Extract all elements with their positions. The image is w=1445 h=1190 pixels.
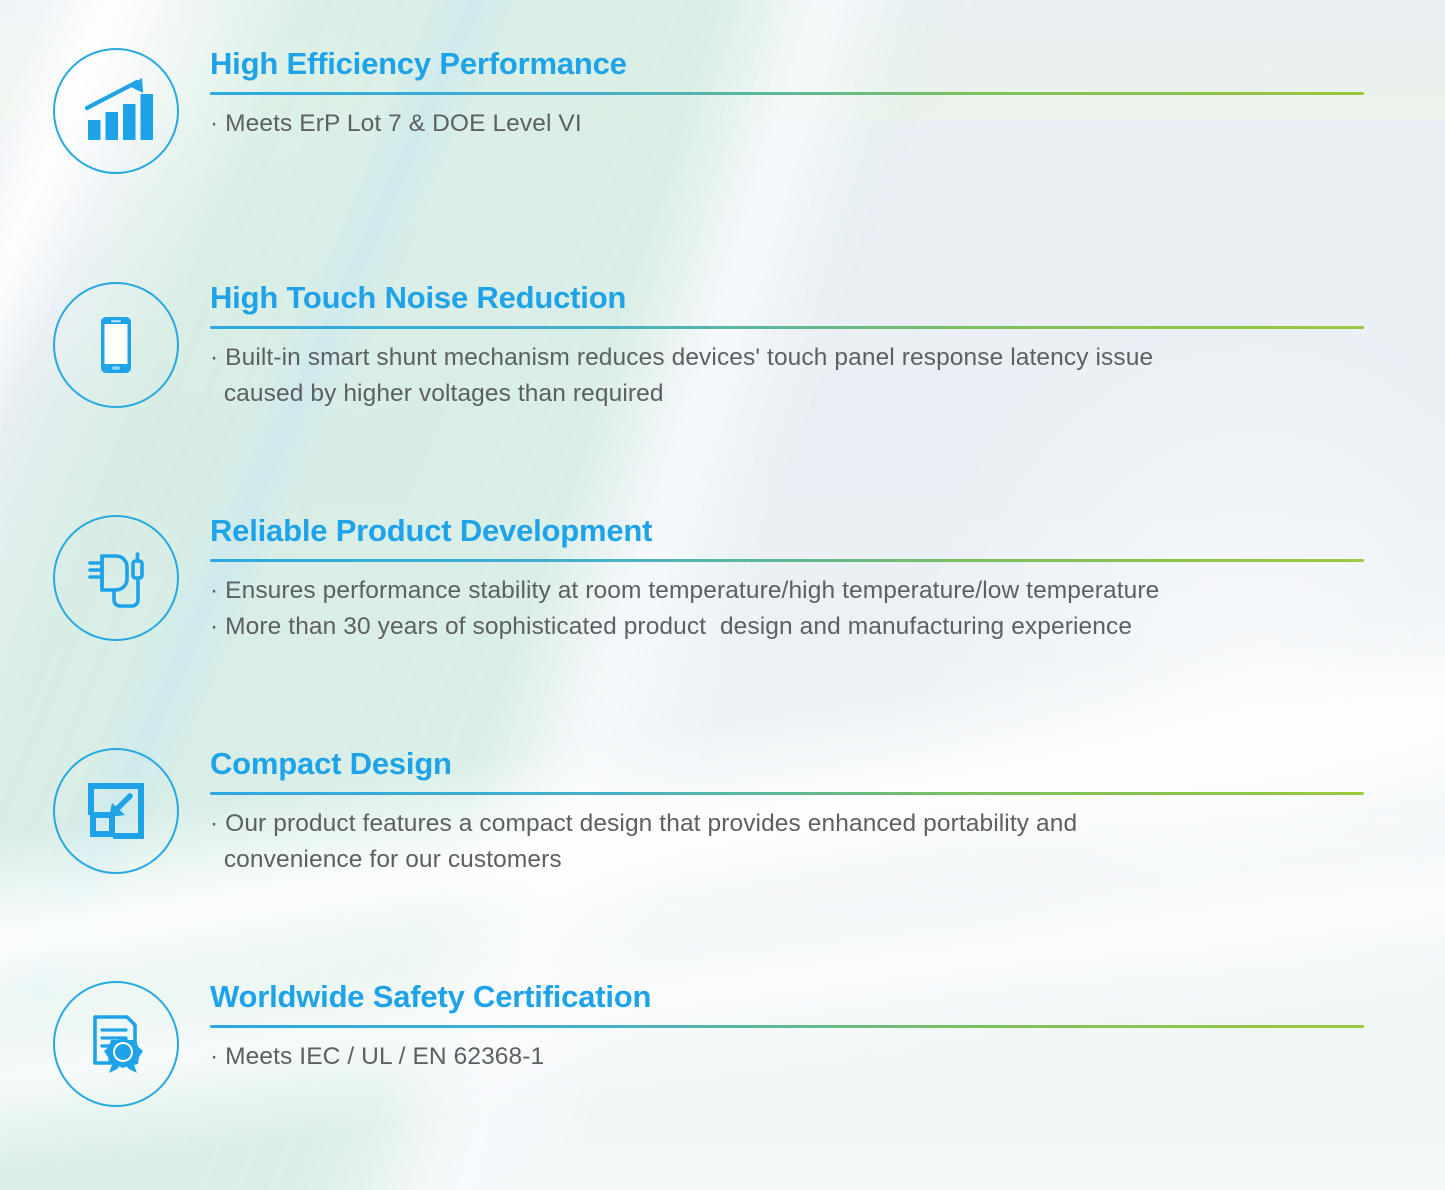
feature-icon-wrapper: [53, 48, 179, 174]
feature-divider: [210, 326, 1364, 329]
certificate-award-icon: [53, 981, 179, 1107]
feature-title: Reliable Product Development: [210, 515, 1365, 548]
feature-divider: [210, 1025, 1364, 1028]
feature-bullet: · Ensures performance stability at room …: [210, 573, 1365, 609]
resize-compact-icon: [53, 748, 179, 874]
feature-bullets: · Our product features a compact design …: [210, 806, 1365, 878]
feature-item-reliable-product-development: Reliable Product Development · Ensures p…: [0, 515, 1445, 645]
feature-title: High Efficiency Performance: [210, 48, 1365, 81]
feature-title: Worldwide Safety Certification: [210, 981, 1365, 1014]
feature-icon-wrapper: [53, 282, 179, 408]
feature-text-column: Compact Design · Our product features a …: [210, 748, 1445, 878]
feature-bullet: · Meets IEC / UL / EN 62368-1: [210, 1039, 1365, 1075]
feature-item-high-efficiency-performance: High Efficiency Performance · Meets ErP …: [0, 48, 1445, 174]
feature-text-column: High Touch Noise Reduction · Built-in sm…: [210, 282, 1445, 412]
feature-item-high-touch-noise-reduction: High Touch Noise Reduction · Built-in sm…: [0, 282, 1445, 412]
feature-bullet: · More than 30 years of sophisticated pr…: [210, 609, 1365, 645]
feature-item-worldwide-safety-certification: Worldwide Safety Certification · Meets I…: [0, 981, 1445, 1107]
feature-bullet: · Our product features a compact design …: [210, 806, 1365, 878]
feature-bullet: · Built-in smart shunt mechanism reduces…: [210, 340, 1365, 412]
feature-item-compact-design: Compact Design · Our product features a …: [0, 748, 1445, 878]
feature-bullets: · Built-in smart shunt mechanism reduces…: [210, 340, 1365, 412]
feature-text-column: Reliable Product Development · Ensures p…: [210, 515, 1445, 645]
feature-title: Compact Design: [210, 748, 1365, 781]
feature-title: High Touch Noise Reduction: [210, 282, 1365, 315]
feature-icon-wrapper: [53, 981, 179, 1107]
feature-bullet: · Meets ErP Lot 7 & DOE Level VI: [210, 106, 1365, 142]
feature-bullets: · Meets IEC / UL / EN 62368-1: [210, 1039, 1365, 1075]
feature-highlights-page: High Efficiency Performance · Meets ErP …: [0, 0, 1445, 1190]
feature-bullets: · Ensures performance stability at room …: [210, 573, 1365, 645]
smartphone-icon: [53, 282, 179, 408]
feature-text-column: High Efficiency Performance · Meets ErP …: [210, 48, 1445, 142]
feature-text-column: Worldwide Safety Certification · Meets I…: [210, 981, 1445, 1075]
feature-divider: [210, 559, 1364, 562]
feature-icon-wrapper: [53, 515, 179, 641]
bar-chart-growth-icon: [53, 48, 179, 174]
feature-bullets: · Meets ErP Lot 7 & DOE Level VI: [210, 106, 1365, 142]
feature-divider: [210, 792, 1364, 795]
power-adapter-icon: [53, 515, 179, 641]
feature-divider: [210, 92, 1364, 95]
feature-icon-wrapper: [53, 748, 179, 874]
